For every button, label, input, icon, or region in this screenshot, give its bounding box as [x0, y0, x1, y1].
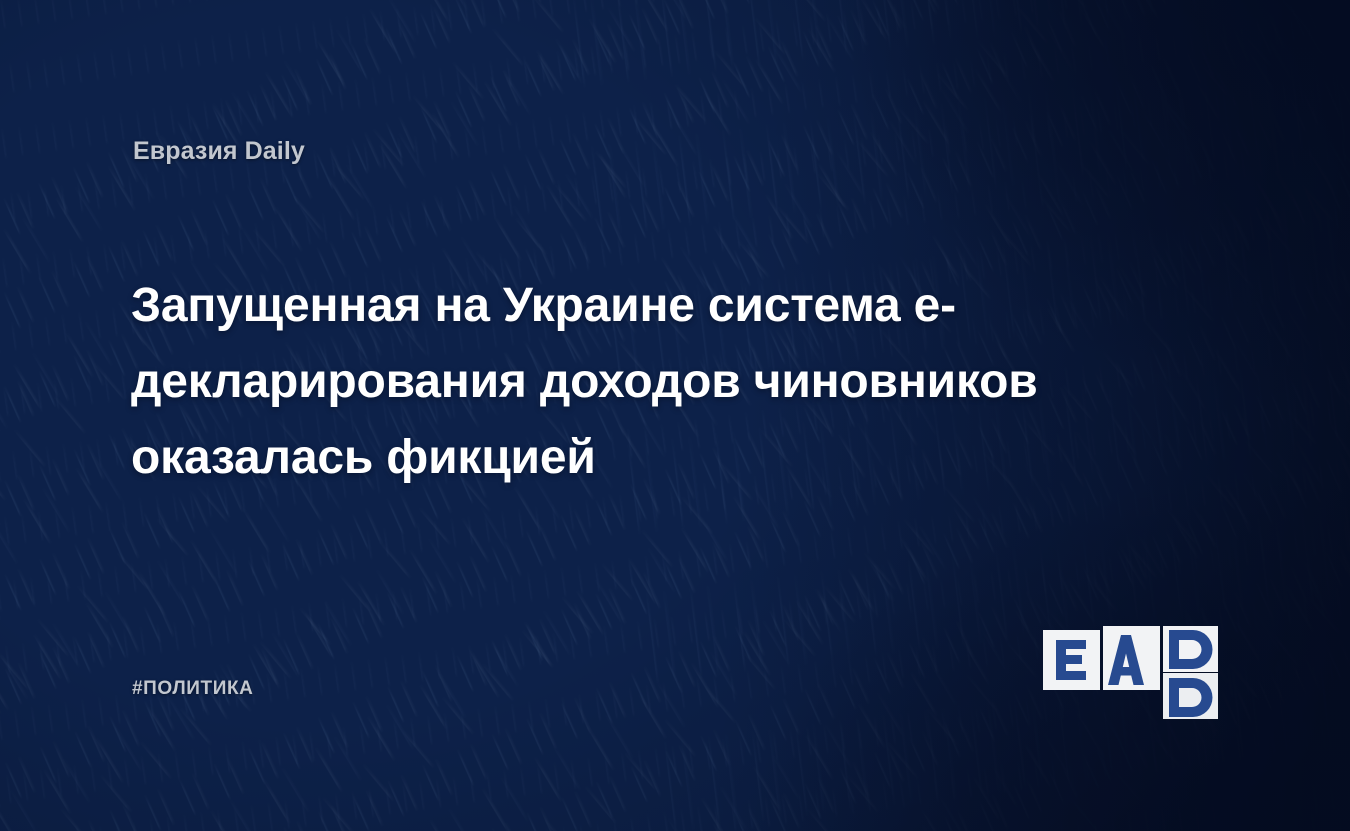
card-content: Евразия Daily Запущенная на Украине сист…	[0, 0, 1350, 831]
category-hashtag: #ПОЛИТИКА	[132, 678, 254, 700]
eadaily-logo-mark	[1043, 626, 1229, 726]
logo-letter-e	[1056, 640, 1086, 680]
brand-name: Евразия Daily	[133, 137, 305, 166]
eadaily-logo	[1043, 626, 1229, 726]
social-share-card: Евразия Daily Запущенная на Украине сист…	[0, 0, 1350, 831]
article-headline: Запущенная на Украине система е-декларир…	[131, 268, 1241, 496]
